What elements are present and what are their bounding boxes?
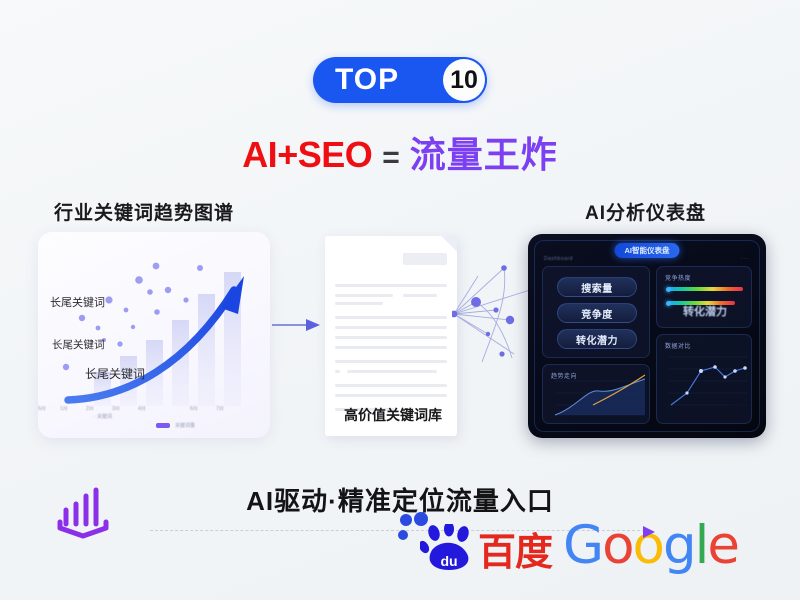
page-fold-icon — [441, 236, 457, 252]
decor-dot-2 — [414, 512, 428, 526]
flow-arrow-icon — [272, 318, 322, 332]
google-letter-g1: G — [563, 515, 602, 576]
trend-tick-1: 1月 — [60, 405, 68, 412]
gauge-knob-1 — [666, 287, 671, 292]
gauge-overlay-label: 转化潜力 — [657, 303, 753, 319]
trend-tick-4: 4月 — [138, 405, 146, 412]
caption-trend-chart: 行业关键词趋势图谱 — [54, 198, 234, 225]
kpi-pill-search-volume[interactable]: 搜索量 — [557, 277, 637, 297]
google-letter-l: l — [695, 515, 708, 576]
trend-chart-svg — [38, 232, 270, 438]
top-badge-word: TOP — [335, 63, 399, 97]
top-badge-number-circle: 10 — [443, 59, 485, 101]
google-letter-g2: g — [663, 515, 695, 576]
trend-label-1: 长尾关键词 — [50, 294, 105, 310]
baidu-name: 百度 — [478, 534, 552, 572]
analytics-bar-chart-icon — [52, 482, 114, 544]
gauge-panel: 竞争热度 转化潜力 — [656, 266, 752, 328]
kpi-panel: 搜索量 竞争度 转化潜力 — [542, 266, 650, 358]
trend-legend-label: 关键词量 — [175, 422, 195, 429]
ai-dashboard-panel: AI智能仪表盘 Dashboard ··· 搜索量 竞争度 转化潜力 趋势走向 … — [528, 234, 766, 438]
decor-dot-1 — [400, 514, 412, 526]
trend-tick-5: 5月 — [38, 405, 46, 412]
trend-chart-card: 长尾关键词 长尾关键词 长尾关键词 1月 2月 3月 4月 5月 6月 7月 ·… — [38, 232, 270, 438]
node-network-diagram — [452, 258, 534, 370]
trend-tick-6: 6月 — [190, 405, 198, 412]
gauge-panel-title: 竞争热度 — [665, 273, 691, 282]
trend-label-2: 长尾关键词 — [52, 337, 105, 352]
area-chart-title: 趋势走向 — [551, 371, 577, 380]
area-chart-panel: 趋势走向 — [542, 364, 650, 424]
caption-dashboard: AI分析仪表盘 — [585, 198, 706, 225]
baidu-paw-icon: du — [420, 524, 476, 572]
document-label: 高价值关键词库 — [329, 405, 457, 425]
headline-left: AI+SEO — [242, 134, 372, 175]
trend-axis-note: · 关键词 — [94, 413, 112, 420]
trend-tick-7: 7月 — [216, 405, 224, 412]
dashboard-menu-icon[interactable]: ··· — [741, 256, 750, 262]
trend-tick-3: 3月 — [112, 405, 120, 412]
google-letter-e: e — [707, 515, 738, 576]
page-title: AI+SEO=流量王炸 — [0, 126, 800, 178]
trend-label-3: 长尾关键词 — [85, 365, 145, 382]
trend-legend-swatch — [156, 423, 170, 428]
baidu-mark-text: du — [440, 553, 457, 569]
doc-header-block — [403, 253, 447, 265]
tagline: AI驱动·精准定位流量入口 — [0, 481, 800, 518]
headline-equals: = — [382, 141, 400, 174]
top-badge-number: 10 — [450, 66, 478, 95]
dashboard-title-badge: AI智能仪表盘 — [615, 243, 680, 258]
baidu-logo: du 百度 — [420, 524, 552, 572]
play-triangle-icon — [640, 524, 658, 540]
dashboard-subtitle: Dashboard — [544, 256, 573, 262]
google-letter-o1: o — [602, 515, 632, 576]
top-rank-badge: TOP 10 — [313, 57, 487, 103]
line-chart-panel: 数据对比 — [656, 334, 752, 424]
trend-tick-2: 2月 — [86, 405, 94, 412]
kpi-pill-conversion[interactable]: 转化潜力 — [557, 329, 637, 349]
headline-right: 流量王炸 — [410, 134, 558, 175]
line-chart-title: 数据对比 — [665, 341, 691, 350]
kpi-pill-competition[interactable]: 竞争度 — [557, 303, 637, 323]
gauge-bar-1 — [667, 287, 743, 291]
decor-dot-3 — [398, 530, 408, 540]
